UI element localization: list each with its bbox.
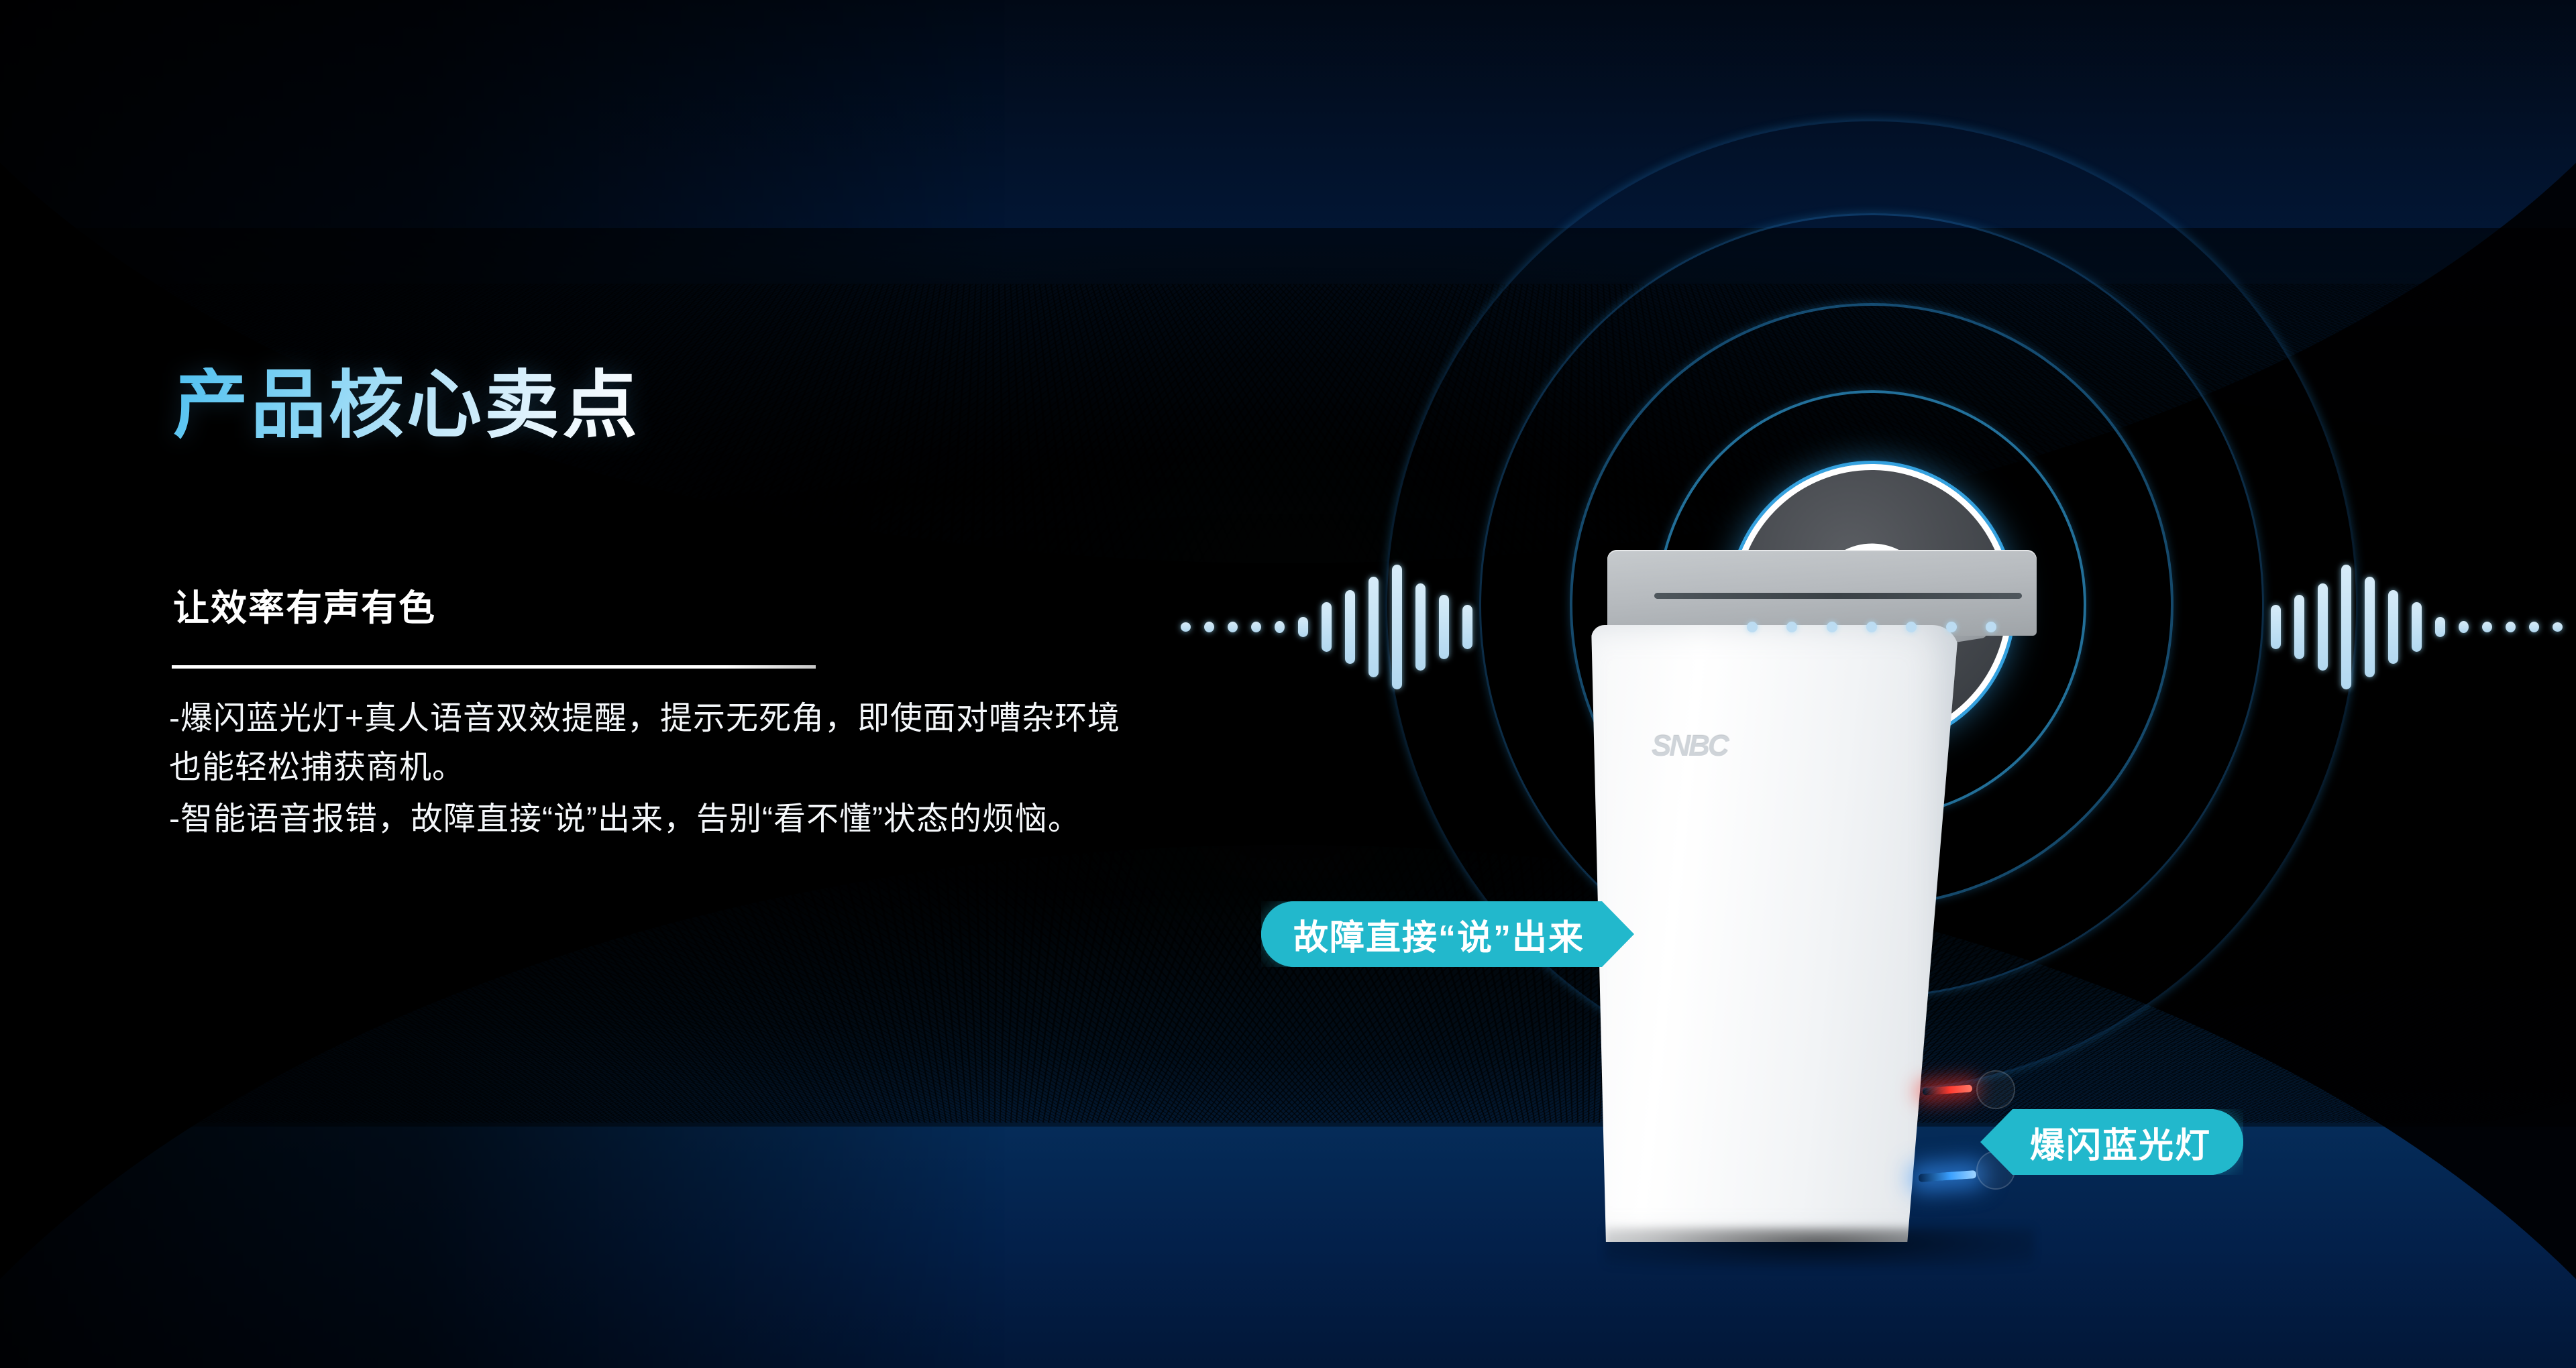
- waveform-bar: [2271, 605, 2281, 649]
- background-left-shade: [0, 0, 1006, 1368]
- waveform-bar: [1345, 590, 1355, 664]
- waveform-center-dot: [1946, 622, 1957, 632]
- waveform-bar: [2412, 602, 2422, 652]
- waveform-bar: [1322, 602, 1332, 652]
- waveform-bar: [2365, 577, 2375, 677]
- waveform-center-dots: [1731, 563, 2012, 691]
- callout-blue-flash-light: 爆闪蓝光灯: [1980, 1109, 2243, 1175]
- waveform-bar: [1181, 622, 1191, 632]
- waveform-bar: [1204, 622, 1214, 632]
- callout-blue-flash-light-label: 爆闪蓝光灯: [2030, 1117, 2211, 1167]
- waveform-bar: [1275, 621, 1285, 633]
- waveform-bar: [2294, 595, 2304, 659]
- brand-logo: SNBC: [1652, 730, 1727, 763]
- callout-voice-alert: 故障直接“说”出来: [1261, 901, 1634, 967]
- callout-voice-alert-label: 故障直接“说”出来: [1293, 909, 1585, 960]
- divider-line: [172, 665, 816, 669]
- status-led-red: [1923, 1084, 1973, 1095]
- waveform-right-group: [2271, 563, 2563, 691]
- slide-canvas: 产品核心卖点 产品核心卖点 让效率有声有色 -爆闪蓝光灯+真人语音双效提醒，提示…: [0, 0, 2576, 1368]
- page-title: 产品核心卖点: [173, 367, 640, 443]
- feature-bullet-1: -爆闪蓝光灯+真人语音双效提醒，提示无死角，即使面对嘈杂环境也能轻松捕获商机。: [169, 695, 1128, 793]
- waveform-bar: [2435, 617, 2445, 637]
- feature-bullet-list: -爆闪蓝光灯+真人语音双效提醒，提示无死角，即使面对嘈杂环境也能轻松捕获商机。 …: [169, 695, 1128, 847]
- waveform-left-group: [1181, 563, 1472, 691]
- printer-button-upper[interactable]: [1976, 1070, 2015, 1109]
- feature-bullet-2: -智能语音报错，故障直接“说”出来，告别“看不懂”状态的烦恼。: [169, 795, 1128, 844]
- waveform-center-dot: [1906, 622, 1917, 632]
- waveform-bar: [1439, 595, 1449, 659]
- waveform-center-dot: [1986, 622, 1996, 632]
- waveform-bar: [1392, 565, 1402, 689]
- waveform-center-dot: [1786, 622, 1797, 632]
- printer-front-body: [1591, 625, 1959, 1242]
- waveform-bar: [1462, 605, 1472, 649]
- section-subtitle: 让效率有声有色: [173, 578, 436, 631]
- waveform-bar: [2529, 622, 2539, 632]
- waveform-center-dot: [1827, 622, 1837, 632]
- printer-ground-shadow: [1605, 1227, 2034, 1267]
- waveform-bar: [1251, 622, 1261, 632]
- waveform-bar: [1368, 577, 1379, 677]
- waveform-center-dot: [1866, 622, 1877, 632]
- waveform-bar: [2459, 621, 2469, 633]
- status-led-blue: [1919, 1170, 1977, 1182]
- waveform-bar: [1228, 622, 1238, 632]
- waveform-bar: [2506, 622, 2516, 632]
- product-graphic: SNBC: [1181, 134, 2563, 1288]
- waveform-bar: [2341, 565, 2351, 689]
- waveform-bar: [2482, 622, 2492, 632]
- waveform-bar: [2553, 622, 2563, 632]
- waveform-center-dot: [1747, 622, 1758, 632]
- waveform-bar: [1415, 583, 1426, 671]
- waveform-bar: [2318, 583, 2328, 671]
- waveform-bar: [2388, 590, 2398, 664]
- waveform-bar: [1298, 617, 1308, 637]
